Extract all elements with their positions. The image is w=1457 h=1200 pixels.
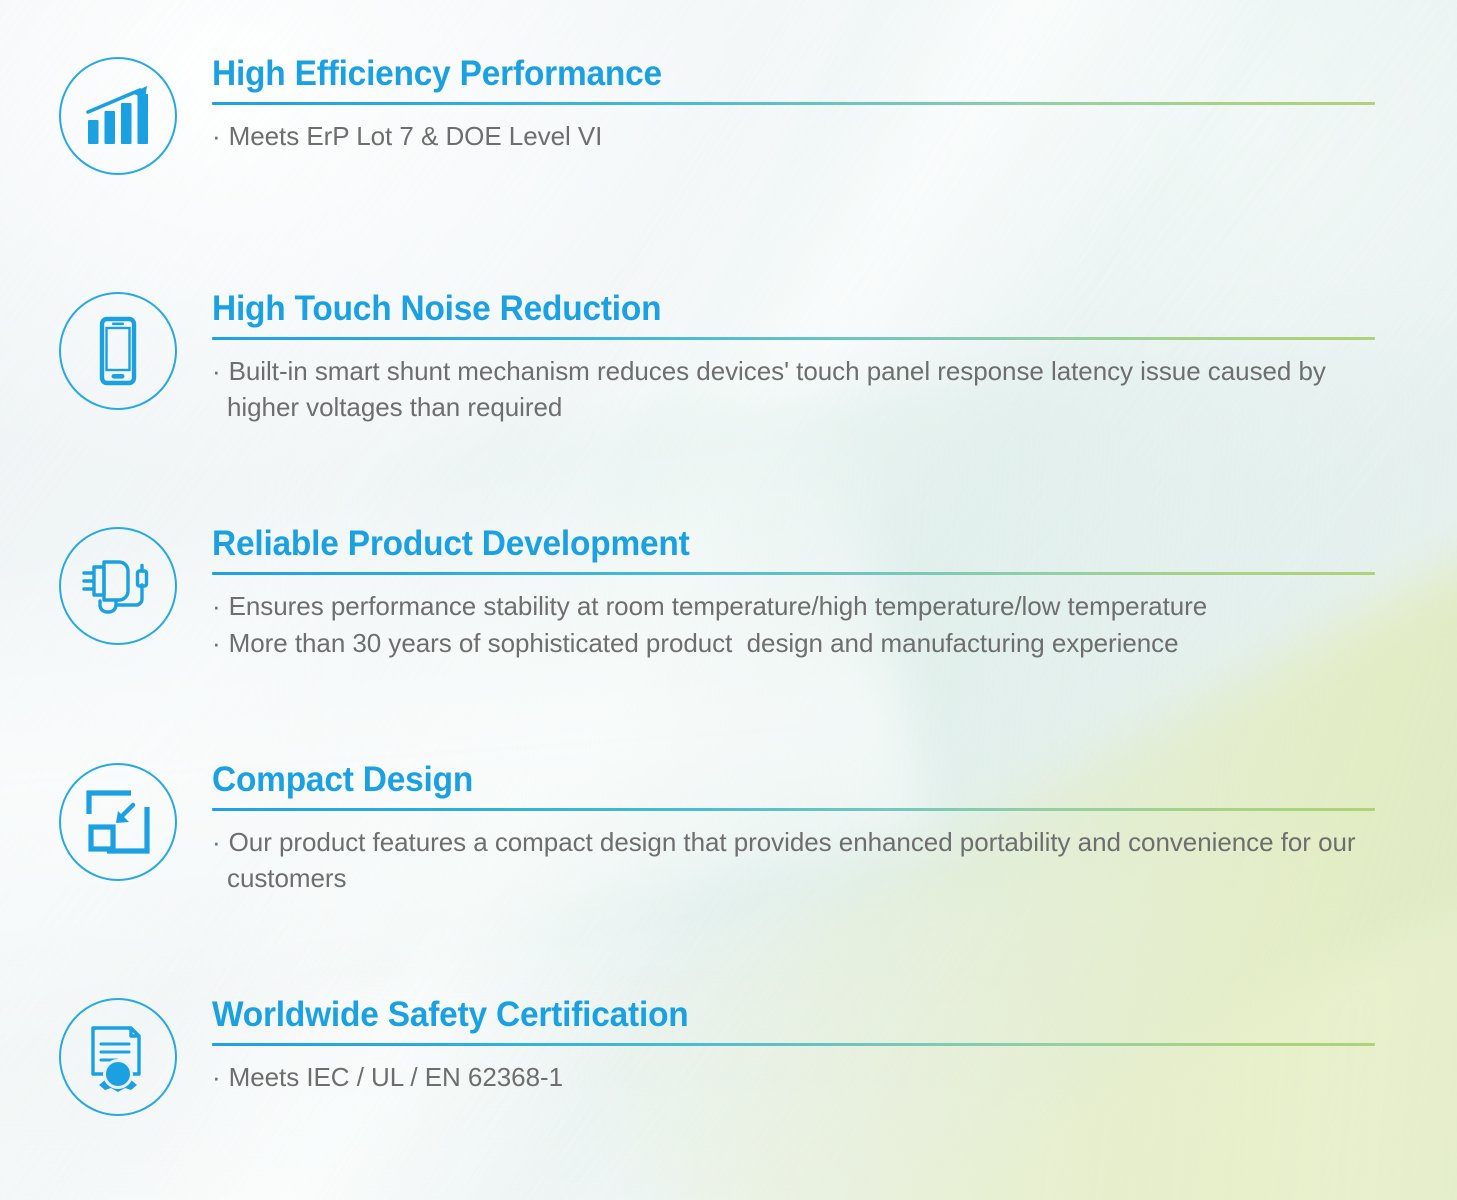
- feature-icon-container: [57, 760, 179, 881]
- feature-line-text: Our product features a compact design th…: [227, 827, 1363, 893]
- power-adapter-icon: [59, 527, 177, 645]
- feature-item-high-efficiency-performance: High Efficiency Performance ·Meets ErP L…: [0, 54, 1457, 175]
- feature-title: High Touch Noise Reduction: [212, 289, 1323, 328]
- feature-text-block: High Efficiency Performance ·Meets ErP L…: [212, 54, 1457, 155]
- feature-divider: [212, 1043, 1375, 1046]
- certificate-award-icon: [59, 998, 177, 1116]
- feature-line-text: Ensures performance stability at room te…: [229, 591, 1208, 621]
- feature-lines: ·Meets ErP Lot 7 & DOE Level VI: [212, 119, 1375, 155]
- feature-icon-container: [57, 995, 179, 1116]
- feature-icon-container: [57, 524, 179, 645]
- feature-line-text: More than 30 years of sophisticated prod…: [229, 628, 1179, 658]
- feature-line: ·Built-in smart shunt mechanism reduces …: [212, 354, 1375, 425]
- feature-line-text: Built-in smart shunt mechanism reduces d…: [227, 356, 1333, 422]
- feature-text-block: Compact Design ·Our product features a c…: [212, 760, 1457, 896]
- smartphone-icon: [59, 292, 177, 410]
- feature-item-reliable-product-development: Reliable Product Development ·Ensures pe…: [0, 524, 1457, 661]
- feature-title: Reliable Product Development: [212, 524, 1323, 563]
- bullet-icon: ·: [212, 356, 221, 386]
- feature-line: ·Ensures performance stability at room t…: [212, 589, 1375, 625]
- feature-icon-container: [57, 289, 179, 410]
- feature-line: ·Meets ErP Lot 7 & DOE Level VI: [212, 119, 1375, 155]
- feature-divider: [212, 102, 1375, 105]
- bullet-icon: ·: [212, 591, 221, 621]
- feature-title: High Efficiency Performance: [212, 54, 1323, 93]
- feature-text-block: High Touch Noise Reduction ·Built-in sma…: [212, 289, 1457, 425]
- bullet-icon: ·: [212, 827, 221, 857]
- feature-lines: ·Meets IEC / UL / EN 62368-1: [212, 1060, 1375, 1096]
- bar-chart-growth-icon: [59, 57, 177, 175]
- feature-divider: [212, 572, 1375, 575]
- compact-resize-icon: [59, 763, 177, 881]
- feature-line-text: Meets IEC / UL / EN 62368-1: [229, 1062, 563, 1092]
- feature-highlights-page: High Efficiency Performance ·Meets ErP L…: [0, 0, 1457, 1200]
- feature-divider: [212, 808, 1375, 811]
- feature-line-text: Meets ErP Lot 7 & DOE Level VI: [229, 121, 603, 151]
- feature-item-worldwide-safety-certification: Worldwide Safety Certification ·Meets IE…: [0, 995, 1457, 1116]
- feature-title: Compact Design: [212, 760, 1323, 799]
- bullet-icon: ·: [212, 628, 221, 658]
- bullet-icon: ·: [212, 1062, 221, 1092]
- feature-title: Worldwide Safety Certification: [212, 995, 1323, 1034]
- feature-lines: ·Ensures performance stability at room t…: [212, 589, 1375, 661]
- feature-lines: ·Our product features a compact design t…: [212, 825, 1375, 896]
- feature-line: ·Meets IEC / UL / EN 62368-1: [212, 1060, 1375, 1096]
- feature-line: ·More than 30 years of sophisticated pro…: [212, 626, 1375, 662]
- feature-line: ·Our product features a compact design t…: [212, 825, 1375, 896]
- feature-text-block: Worldwide Safety Certification ·Meets IE…: [212, 995, 1457, 1096]
- feature-item-high-touch-noise-reduction: High Touch Noise Reduction ·Built-in sma…: [0, 289, 1457, 425]
- feature-item-compact-design: Compact Design ·Our product features a c…: [0, 760, 1457, 896]
- feature-text-block: Reliable Product Development ·Ensures pe…: [212, 524, 1457, 661]
- feature-divider: [212, 337, 1375, 340]
- feature-lines: ·Built-in smart shunt mechanism reduces …: [212, 354, 1375, 425]
- bullet-icon: ·: [212, 121, 221, 151]
- feature-icon-container: [57, 54, 179, 175]
